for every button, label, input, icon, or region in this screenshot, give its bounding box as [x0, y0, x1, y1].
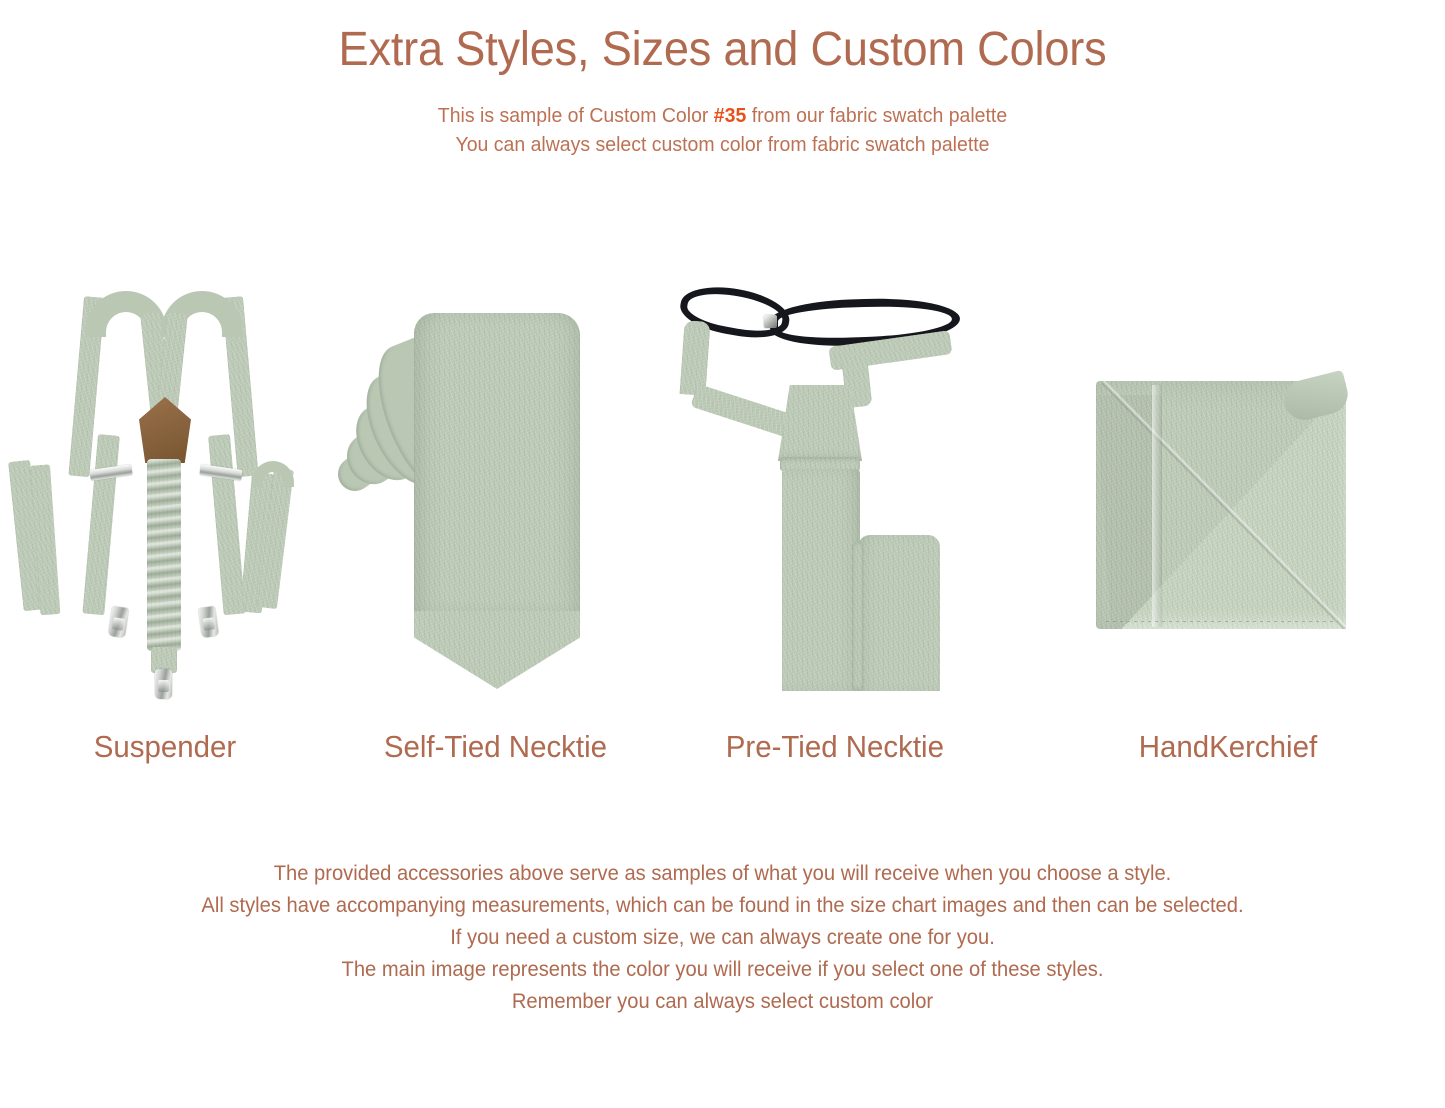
- product-label-self-tied-necktie: Self-Tied Necktie: [383, 715, 606, 762]
- suspender-clip-center: [155, 669, 172, 699]
- handkerchief-body: [1096, 381, 1346, 629]
- necktie-blade: [414, 313, 580, 613]
- product-handkerchief[interactable]: HandKerchief: [1010, 262, 1445, 762]
- page-title: Extra Styles, Sizes and Custom Colors: [43, 0, 1401, 77]
- necktie-icon: [330, 285, 660, 715]
- leather-patch: [139, 397, 191, 463]
- pre-tied-knot: [778, 385, 862, 461]
- suspender-icon: [0, 285, 330, 715]
- pre-tied-blade-fold: [858, 535, 940, 691]
- product-pre-tied-necktie[interactable]: Pre-Tied Necktie: [660, 262, 1010, 762]
- pre-tied-blade-fold-edge: [852, 541, 864, 691]
- product-suspender[interactable]: Suspender: [0, 262, 330, 762]
- neck-strap-hook-icon: [764, 315, 777, 328]
- footer-line-1: The provided accessories above serve as …: [29, 858, 1416, 890]
- header: Extra Styles, Sizes and Custom Colors Th…: [0, 0, 1445, 159]
- suspender-center-strap: [147, 459, 181, 651]
- product-label-suspender: Suspender: [94, 715, 236, 762]
- product-label-handkerchief: HandKerchief: [1138, 715, 1316, 762]
- subtitle-line-1: This is sample of Custom Color #35 from …: [36, 101, 1409, 130]
- subtitle-text-after: from our fabric swatch palette: [746, 104, 1007, 127]
- footer-line-4: The main image represents the color you …: [29, 954, 1416, 986]
- custom-color-code: #35: [714, 104, 747, 127]
- pre-tied-neck-fabric-left: [679, 320, 710, 396]
- product-self-tied-necktie[interactable]: Self-Tied Necktie: [330, 262, 660, 762]
- necktie-tip: [414, 611, 580, 689]
- suspender-fold-right: [252, 461, 294, 487]
- subtitle-line-2: You can always select custom color from …: [36, 130, 1409, 159]
- footer-line-5: Remember you can always select custom co…: [29, 986, 1416, 1018]
- pre-tied-necktie-icon: [660, 285, 1010, 715]
- product-row: Suspender Self-Tied Necktie: [0, 262, 1445, 762]
- subtitle-block: This is sample of Custom Color #35 from …: [0, 101, 1445, 159]
- handkerchief-hem: [1106, 621, 1338, 622]
- product-info-graphic: Extra Styles, Sizes and Custom Colors Th…: [0, 0, 1445, 1108]
- pre-tied-blade: [782, 469, 860, 691]
- footer-line-3: If you need a custom size, we can always…: [29, 922, 1416, 954]
- footer-notes: The provided accessories above serve as …: [0, 858, 1445, 1018]
- pocket-square-icon: [1010, 285, 1445, 715]
- footer-line-2: All styles have accompanying measurement…: [29, 890, 1416, 922]
- subtitle-text-before: This is sample of Custom Color: [438, 104, 714, 127]
- product-label-pre-tied-necktie: Pre-Tied Necktie: [726, 715, 944, 762]
- suspender-clip-right: [198, 606, 219, 638]
- suspender-clip-left: [108, 606, 129, 638]
- handkerchief-left-fold-edge: [1152, 385, 1162, 627]
